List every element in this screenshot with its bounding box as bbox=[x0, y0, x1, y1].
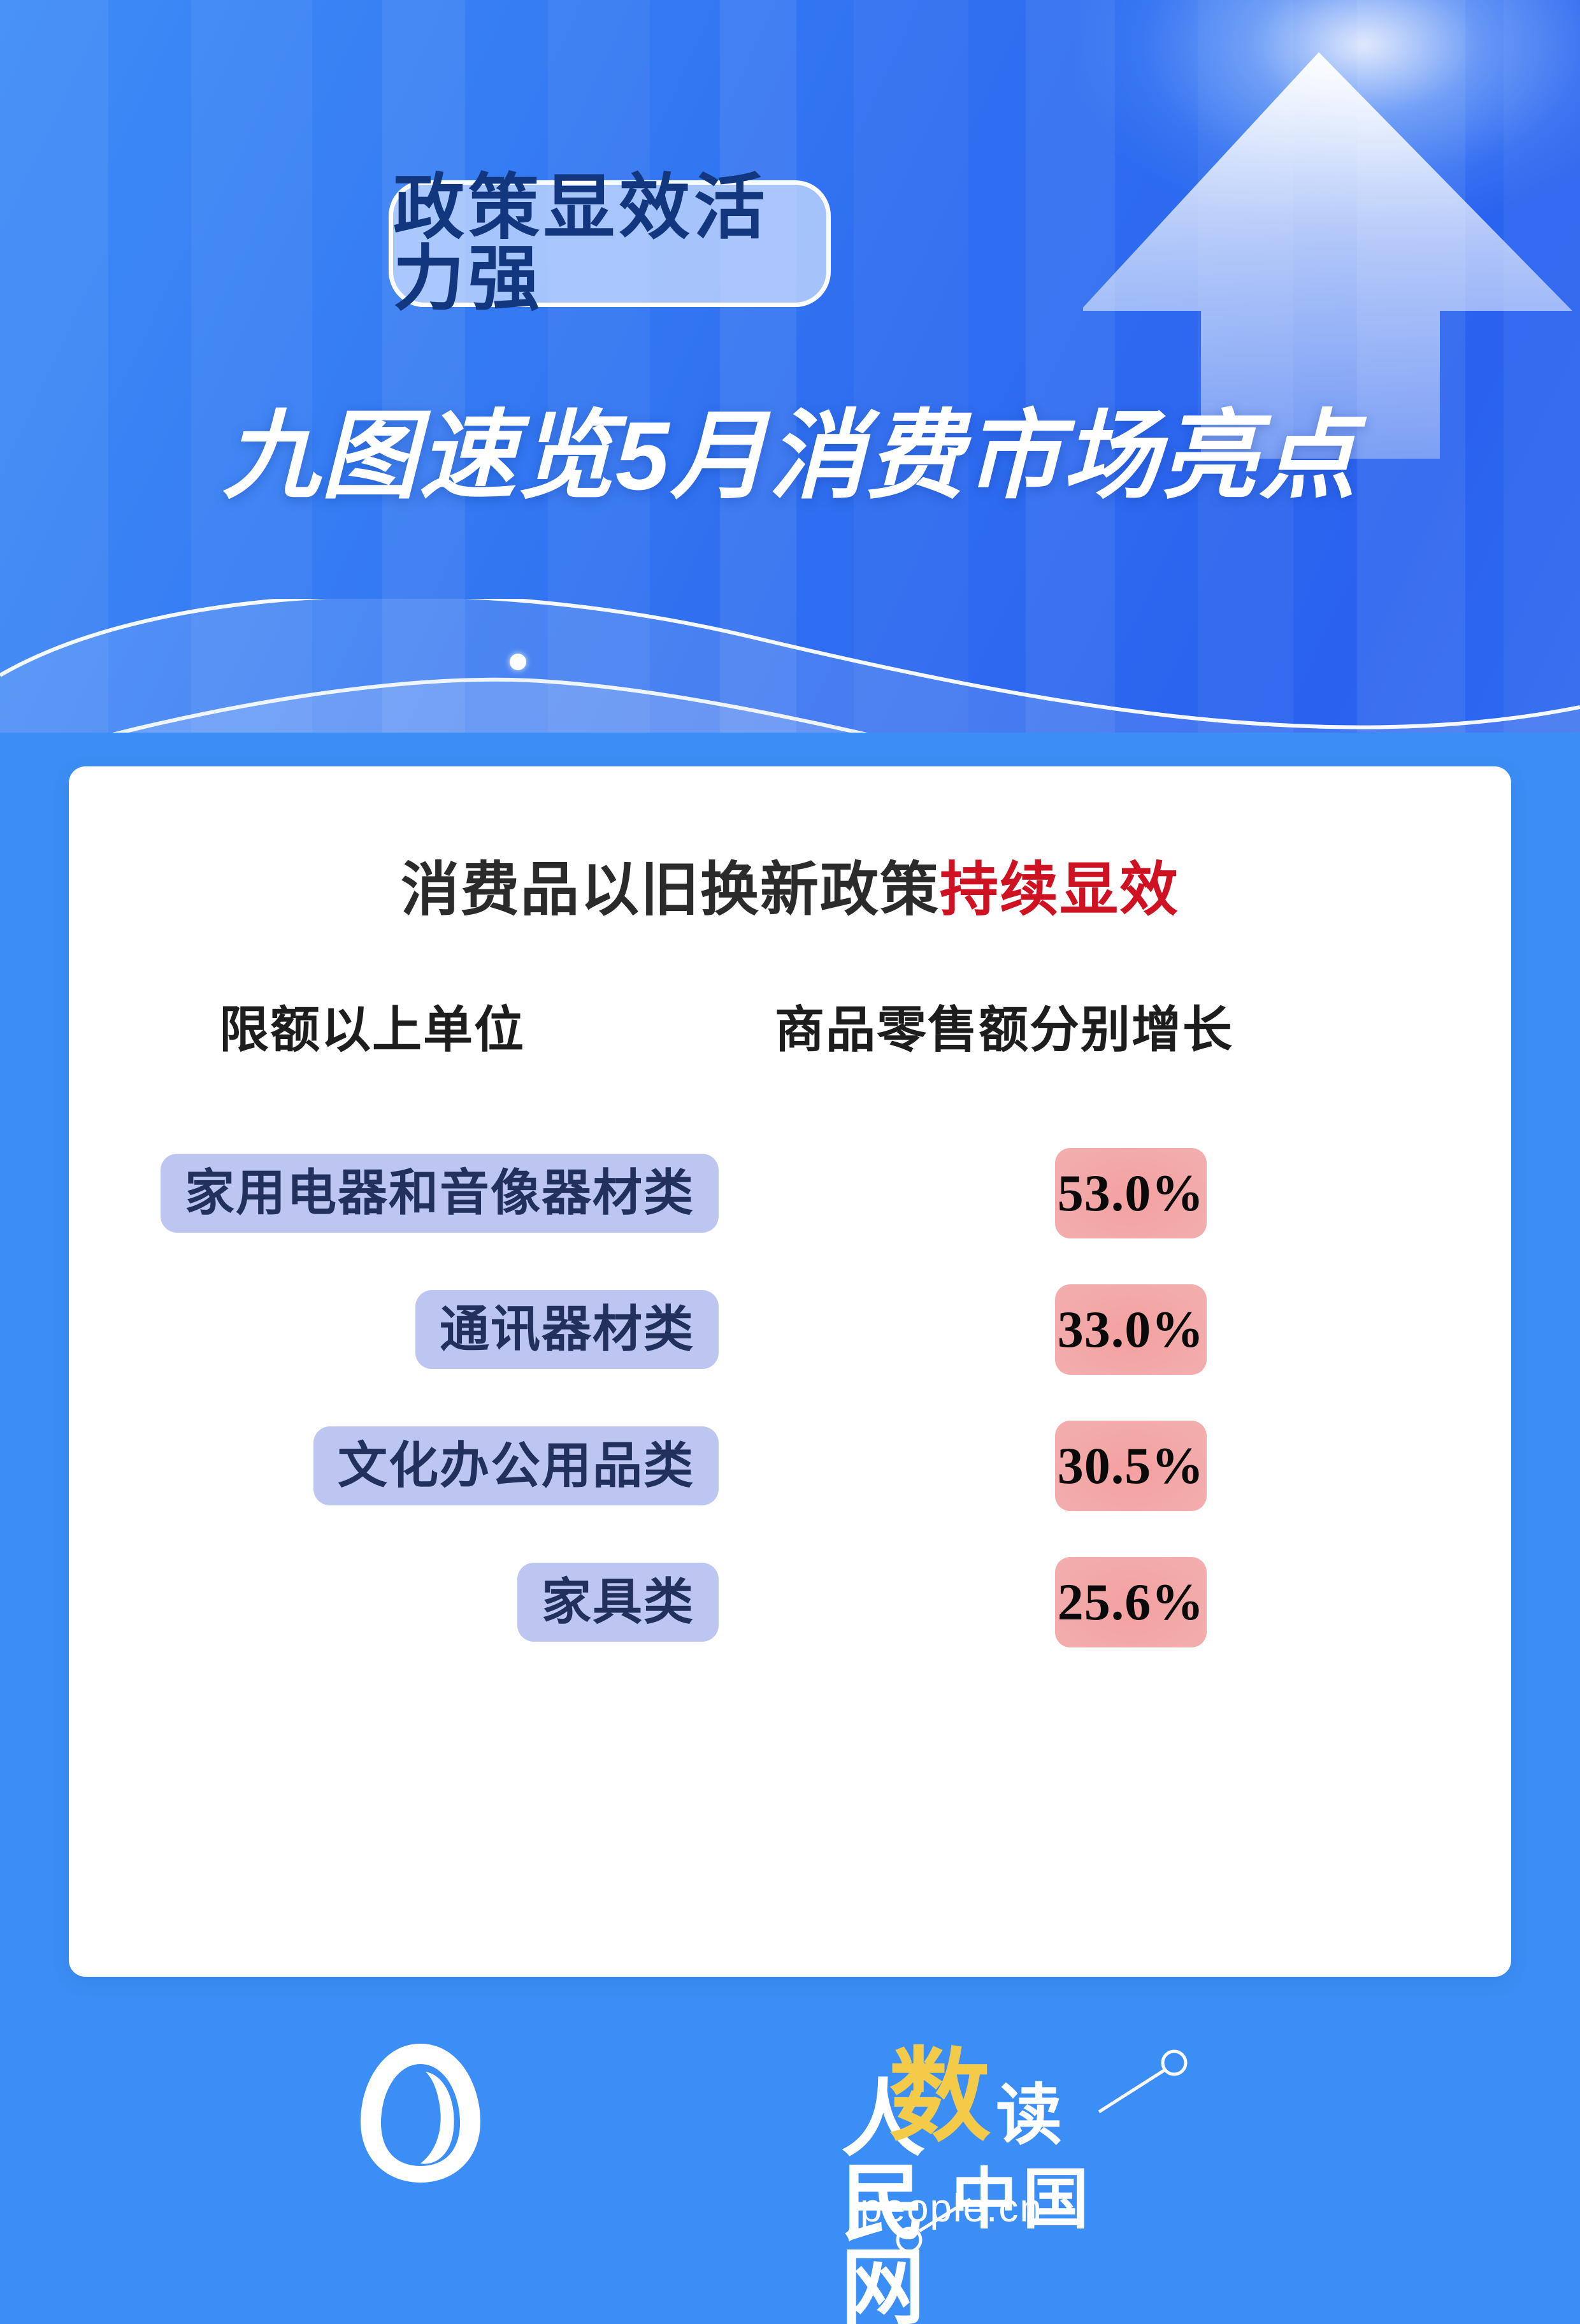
category-pill: 家具类 bbox=[517, 1563, 719, 1642]
data-rows: 家用电器和音像器材类 53.0% 通讯器材类 33.0% 文化办公用品类 bbox=[69, 1142, 1511, 1688]
value-cell: 25.6% bbox=[1055, 1551, 1412, 1653]
category-cell: 文化办公用品类 bbox=[69, 1415, 719, 1517]
category-cell: 家具类 bbox=[69, 1551, 719, 1653]
shudu-zhongguo-logo[interactable]: 数 读 中国 bbox=[889, 2032, 1220, 2262]
people-swirl-icon bbox=[357, 2039, 484, 2166]
wave-marker-dot bbox=[510, 654, 526, 670]
card-title-main: 消费品以旧换新政策 bbox=[401, 857, 940, 922]
shudu-du-char: 读 bbox=[996, 2083, 1062, 2149]
shudu-zhongguo-chars: 中国 bbox=[951, 2167, 1094, 2234]
infographic-poster: 政策显效活力强 九图速览5月消费市场亮点 消费品以旧换新政策持续显效 限额以上单… bbox=[0, 0, 1580, 2324]
table-row: 通讯器材类 33.0% bbox=[69, 1279, 1511, 1415]
content-card: 消费品以旧换新政策持续显效 限额以上单位 商品零售额分别增长 家用电器和音像器材… bbox=[69, 766, 1511, 1977]
category-pill: 文化办公用品类 bbox=[313, 1426, 719, 1505]
column-header-right: 商品零售额分别增长 bbox=[775, 1005, 1233, 1055]
value-pill: 25.6% bbox=[1055, 1557, 1207, 1647]
badge-label: 政策显效活力强 bbox=[393, 173, 826, 315]
main-headline: 九图速览5月消费市场亮点 bbox=[0, 408, 1580, 505]
category-cell: 通讯器材类 bbox=[69, 1279, 719, 1381]
column-header-left: 限额以上单位 bbox=[219, 1005, 525, 1055]
headline-text: 九图速览5月消费市场亮点 bbox=[223, 408, 1358, 505]
category-cell: 家用电器和音像器材类 bbox=[69, 1142, 719, 1244]
category-pill: 家用电器和音像器材类 bbox=[161, 1154, 719, 1233]
table-row: 家用电器和音像器材类 53.0% bbox=[69, 1142, 1511, 1279]
up-arrow-icon bbox=[1083, 13, 1580, 459]
value-cell: 53.0% bbox=[1055, 1142, 1412, 1244]
card-title-highlight: 持续显效 bbox=[940, 857, 1179, 922]
table-row: 文化办公用品类 30.5% bbox=[69, 1415, 1511, 1551]
people-cn-logo[interactable]: 人民网 people.cn bbox=[357, 2039, 484, 2166]
value-pill: 30.5% bbox=[1055, 1421, 1207, 1511]
value-cell: 33.0% bbox=[1055, 1279, 1412, 1381]
footer: 人民网 people.cn 数 读 中国 bbox=[0, 2019, 1580, 2287]
card-title: 消费品以旧换新政策持续显效 bbox=[69, 861, 1511, 919]
table-row: 家具类 25.6% bbox=[69, 1551, 1511, 1688]
value-cell: 30.5% bbox=[1055, 1415, 1412, 1517]
shudu-shu-char: 数 bbox=[889, 2046, 991, 2148]
value-pill: 53.0% bbox=[1055, 1148, 1207, 1238]
title-badge: 政策显效活力强 bbox=[389, 180, 831, 307]
category-pill: 通讯器材类 bbox=[415, 1290, 719, 1369]
value-pill: 33.0% bbox=[1055, 1284, 1207, 1375]
